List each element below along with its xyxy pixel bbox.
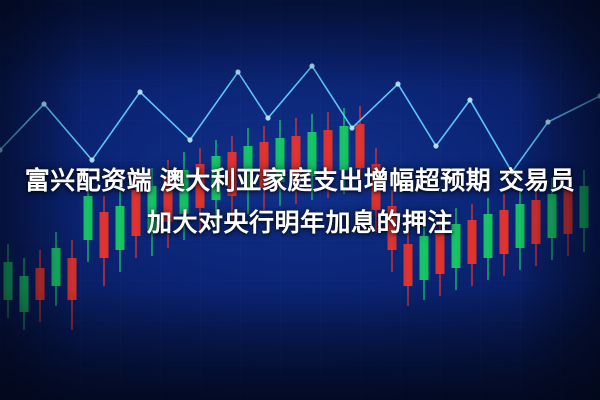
headline-line-2: 加大对央行明年加息的押注 <box>14 202 586 244</box>
headline-line-1: 富兴配资端 澳大利亚家庭支出增幅超预期 交易员 <box>14 160 586 202</box>
banner-image: 富兴配资端 澳大利亚家庭支出增幅超预期 交易员 加大对央行明年加息的押注 <box>0 0 600 400</box>
headline-text: 富兴配资端 澳大利亚家庭支出增幅超预期 交易员 加大对央行明年加息的押注 <box>0 160 600 244</box>
